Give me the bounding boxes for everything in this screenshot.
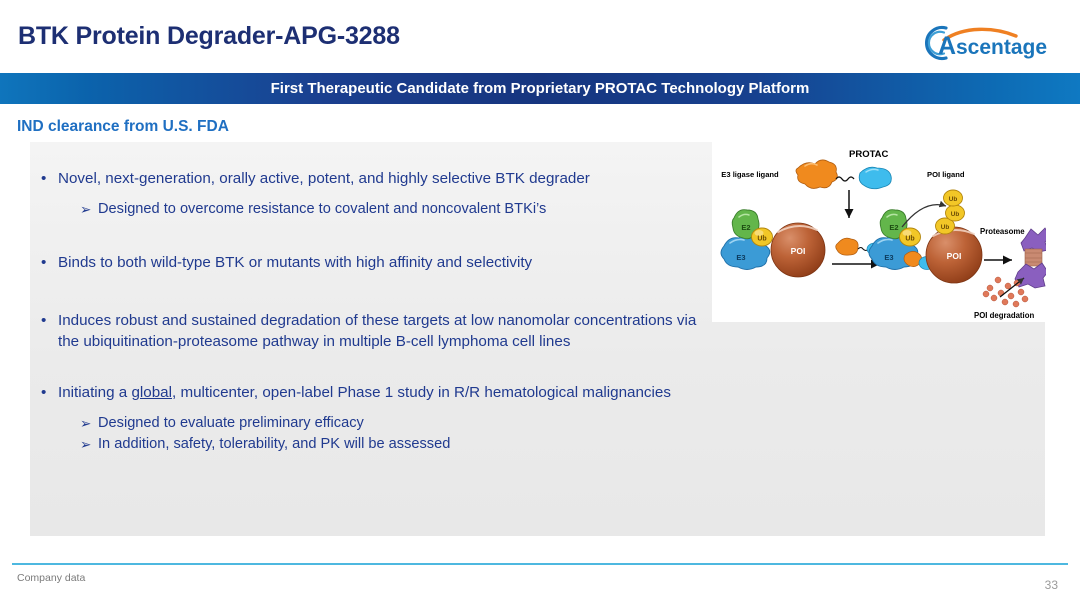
diagram-title-label: PROTAC [849,149,889,160]
bullet-list: • Novel, next-generation, orally active,… [36,168,736,457]
e3-ligase-ligand-label: E3 ligase ligand [721,170,779,179]
svg-text:E2: E2 [741,223,750,232]
bullet-marker-icon: • [41,382,46,403]
bullet-group-1: • Novel, next-generation, orally active,… [36,168,736,220]
slide-root: BTK Protein Degrader-APG-3288 A scentage… [0,0,1080,604]
bullet-marker-icon: • [41,310,46,331]
sub-bullet-arrow-icon: ➢ [80,434,91,455]
bullet-item: • Initiating a global, multicenter, open… [36,382,736,403]
protac-mechanism-diagram: PROTAC E3 ligase ligand POI ligand [712,142,1046,322]
ascentage-logo: A scentage [920,20,1060,66]
subheading: IND clearance from U.S. FDA [17,118,229,136]
footer-divider [12,563,1068,565]
sub-bullet-text: Designed to evaluate preliminary efficac… [98,415,364,431]
e2-e3-complex-left: E3 E2 Ub [721,210,773,270]
poi-degradation-label: POI degradation [974,311,1034,320]
svg-text:Ub: Ub [949,196,958,203]
bullet-item: • Binds to both wild-type BTK or mutants… [36,252,736,273]
section-banner-text: First Therapeutic Candidate from Proprie… [0,73,1080,104]
svg-text:Ub: Ub [951,211,960,218]
proteasome-shape [1015,228,1046,288]
svg-text:POI: POI [947,251,962,261]
poi-sphere-left: POI [771,223,825,277]
bullet-text: Binds to both wild-type BTK or mutants w… [58,254,532,271]
sub-bullet-item: ➢ In addition, safety, tolerability, and… [36,434,736,455]
footer-source-note: Company data [17,572,85,584]
bullet-group-4: • Initiating a global, multicenter, open… [36,382,736,455]
sub-bullet-arrow-icon: ➢ [80,199,91,220]
bullet-marker-icon: • [41,168,46,189]
bullet-text-emphasis: global [131,384,172,401]
svg-text:A: A [938,32,956,60]
bullet-text-before: Initiating a [58,384,131,401]
e3-ligand-shape [796,160,837,189]
sub-bullet-item: ➢ Designed to overcome resistance to cov… [36,199,736,220]
page-number: 33 [1045,578,1058,592]
sub-bullet-arrow-icon: ➢ [80,413,91,434]
logo-wordmark: scentage [956,36,1047,59]
svg-text:E2: E2 [889,223,898,232]
bullet-group-3: • Induces robust and sustained degradati… [36,310,736,352]
bullet-marker-icon: • [41,252,46,273]
proteasome-label: Proteasome [980,227,1025,236]
poi-ligand-label: POI ligand [927,170,965,179]
svg-text:POI: POI [791,246,806,256]
page-title: BTK Protein Degrader-APG-3288 [18,22,400,51]
sub-bullet-text: In addition, safety, tolerability, and P… [98,436,450,452]
svg-text:Ub: Ub [905,236,914,243]
bullet-text-line-1: Induces robust and sustained degradation… [58,312,696,329]
bullet-text-after: , multicenter, open-label Phase 1 study … [172,384,671,401]
svg-text:E3: E3 [736,253,745,262]
bullet-text: Novel, next-generation, orally active, p… [58,170,590,187]
poi-sphere-right: POI [926,227,982,283]
ascentage-logo-icon: A scentage [920,20,1060,66]
svg-text:Ub: Ub [757,236,766,243]
svg-text:Ub: Ub [941,224,950,231]
bullet-group-2: • Binds to both wild-type BTK or mutants… [36,252,736,273]
bullet-text-line-2: the ubiquitination-proteasome pathway in… [58,333,570,350]
sub-bullet-text: Designed to overcome resistance to coval… [98,201,546,217]
bullet-item: • Novel, next-generation, orally active,… [36,168,736,189]
ternary-complex: E3 E2 Ub [869,210,935,270]
poi-ligand-shape [859,167,891,189]
sub-bullet-item: ➢ Designed to evaluate preliminary effic… [36,413,736,434]
section-banner: First Therapeutic Candidate from Proprie… [0,73,1080,104]
protac-linker-icon [836,177,854,181]
bullet-item: • Induces robust and sustained degradati… [36,310,736,352]
svg-text:E3: E3 [884,253,893,262]
